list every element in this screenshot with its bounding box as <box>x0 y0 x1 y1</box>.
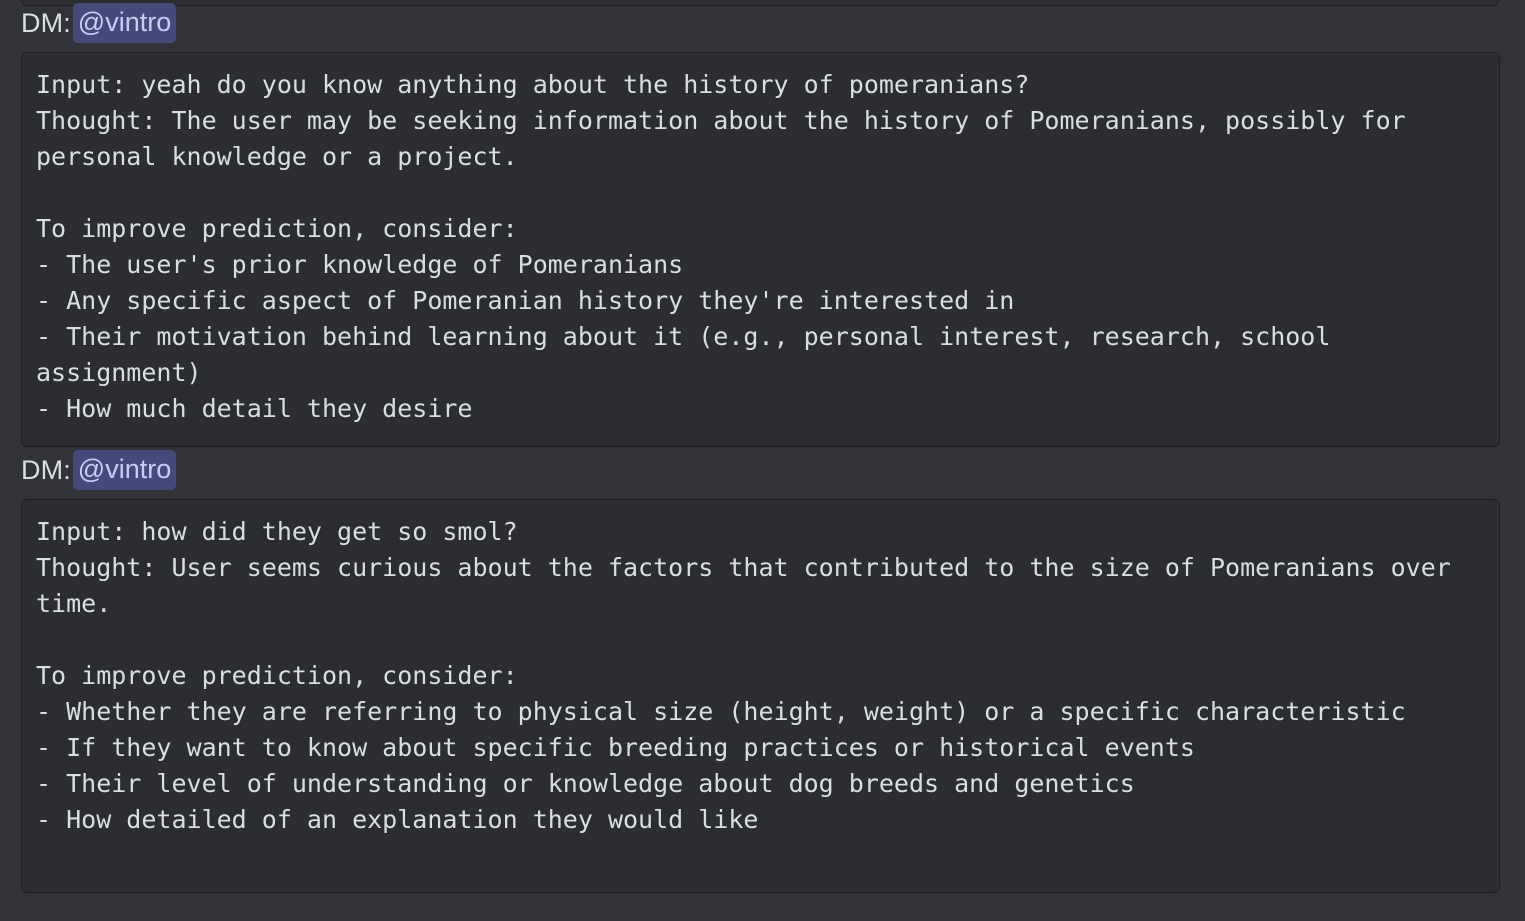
code-block-1[interactable]: Input: yeah do you know anything about t… <box>21 52 1500 447</box>
dm-label: DM: <box>21 10 71 37</box>
mention-badge-vintro[interactable]: @vintro <box>73 450 176 490</box>
chat-message-stream: DM: @vintro Input: yeah do you know anyt… <box>0 0 1525 921</box>
message-header-2: DM: @vintro <box>0 447 1525 493</box>
mention-badge-vintro[interactable]: @vintro <box>73 3 176 43</box>
code-block-1-text: Input: yeah do you know anything about t… <box>36 67 1487 427</box>
message-header-1: DM: @vintro <box>0 0 1525 46</box>
messages-container: DM: @vintro Input: yeah do you know anyt… <box>0 0 1525 893</box>
dm-label: DM: <box>21 457 71 484</box>
code-block-2[interactable]: Input: how did they get so smol? Thought… <box>21 499 1500 893</box>
code-block-2-text: Input: how did they get so smol? Thought… <box>36 514 1487 838</box>
